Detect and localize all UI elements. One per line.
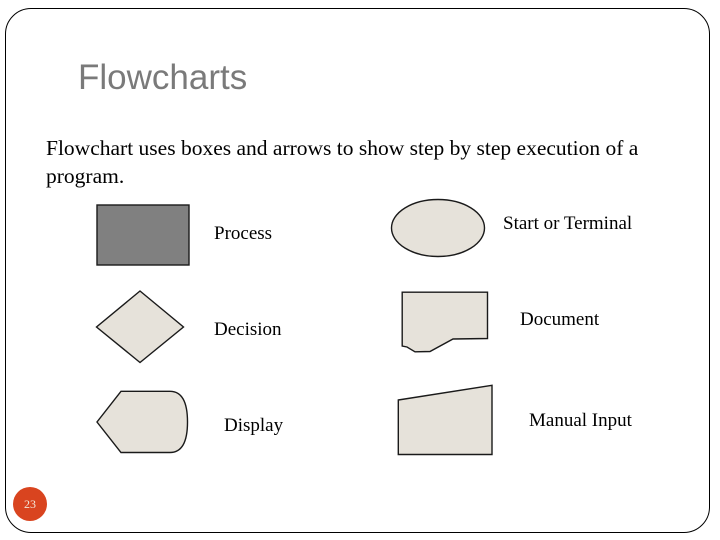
page-title: Flowcharts [78, 58, 247, 98]
shape-decision[interactable] [95, 290, 185, 364]
page-number-text: 23 [24, 498, 36, 510]
shape-process[interactable] [96, 204, 190, 266]
frame-edge-mask-bottom [0, 534, 720, 540]
frame-edge-mask-right [711, 0, 720, 540]
shape-display[interactable] [95, 390, 191, 456]
label-decision: Decision [214, 319, 282, 341]
slide-body-text: Flowchart uses boxes and arrows to show … [46, 134, 676, 190]
label-display: Display [224, 415, 283, 437]
shape-manual-input[interactable] [397, 384, 495, 458]
label-manual-input: Manual Input [529, 410, 632, 432]
label-start-or-terminal: Start or Terminal [503, 213, 632, 235]
label-process: Process [214, 223, 272, 245]
shape-start-or-terminal[interactable] [390, 198, 486, 258]
slide-canvas: Flowcharts Flowchart uses boxes and arro… [0, 0, 720, 540]
page-number-badge: 23 [13, 487, 47, 521]
label-document: Document [520, 309, 599, 331]
shape-document[interactable] [401, 291, 491, 357]
